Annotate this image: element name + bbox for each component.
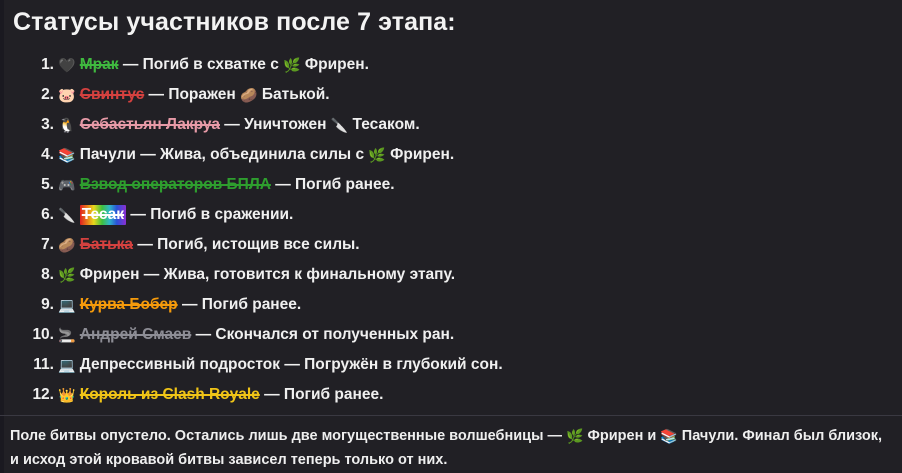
list-item: 8.🌿 Фрирен — Жива, готовится к финальном… bbox=[58, 260, 898, 290]
list-item: 5.🎮 Взвод операторов БПЛА — Погиб ранее. bbox=[58, 170, 898, 200]
em-dash: — bbox=[275, 176, 291, 193]
em-dash: — bbox=[196, 326, 212, 343]
list-item: 4.📚 Пачули — Жива, объединила силы с 🌿 Ф… bbox=[58, 140, 898, 170]
list-item-number: 3. bbox=[24, 110, 54, 140]
status-description: Погиб, истощив все силы. bbox=[157, 236, 359, 253]
participant-name: Тесак bbox=[80, 205, 126, 225]
status-description: Погиб ранее. bbox=[295, 176, 394, 193]
herb-emoji: 🌿 bbox=[368, 141, 385, 171]
footer-text-part2: Фрирен и bbox=[588, 428, 657, 444]
laptop-emoji: 💻 bbox=[58, 351, 75, 381]
books-emoji: 📚 bbox=[58, 141, 75, 171]
list-item: 7.🥔 Батька — Погиб, истощив все силы. bbox=[58, 230, 898, 260]
document-page: Статусы участников после 7 этапа: 1.🖤 Мр… bbox=[0, 0, 902, 473]
herb-emoji: 🌿 bbox=[58, 261, 75, 291]
page-title: Статусы участников после 7 этапа: bbox=[13, 8, 456, 37]
participant-name: Король из Clash Royale bbox=[80, 386, 260, 403]
em-dash: — bbox=[284, 356, 300, 373]
participant-name: Депрессивный подросток bbox=[80, 356, 280, 373]
participant-status-list: 1.🖤 Мрак — Погиб в схватке с 🌿 Фрирен.2.… bbox=[0, 50, 898, 410]
cigarette-emoji: 🚬 bbox=[58, 321, 75, 351]
list-item-number: 12. bbox=[24, 380, 54, 410]
status-description: Погиб ранее. bbox=[284, 386, 383, 403]
status-description: Погиб в сражении. bbox=[150, 206, 293, 223]
list-item-number: 9. bbox=[24, 290, 54, 320]
em-dash: — bbox=[144, 266, 160, 283]
pig-face-emoji: 🐷 bbox=[58, 81, 75, 111]
penguin-tuxedo-emoji: 🐧 bbox=[58, 111, 75, 141]
laptop-emoji: 💻 bbox=[58, 291, 75, 321]
participant-name: Фрирен bbox=[80, 266, 140, 283]
herb-icon: 🌿 bbox=[566, 426, 583, 449]
participant-name: Курва Бобер bbox=[80, 296, 178, 313]
em-dash: — bbox=[149, 86, 165, 103]
list-item-number: 10. bbox=[24, 320, 54, 350]
em-dash: — bbox=[224, 116, 240, 133]
list-item: 9.💻 Курва Бобер — Погиб ранее. bbox=[58, 290, 898, 320]
list-item: 2.🐷 Свинтус — Поражен 🥔 Батькой. bbox=[58, 80, 898, 110]
participant-name: Батька bbox=[80, 236, 133, 253]
participant-name: Андрей Смаев bbox=[80, 326, 192, 343]
status-description-tail: Фрирен. bbox=[305, 56, 369, 73]
list-item: 6.🔪 Тесак — Погиб в сражении. bbox=[58, 200, 898, 230]
list-item: 11.💻 Депрессивный подросток — Погружён в… bbox=[58, 350, 898, 380]
list-item-number: 4. bbox=[24, 140, 54, 170]
footer-divider bbox=[0, 415, 902, 416]
em-dash: — bbox=[130, 206, 146, 223]
status-description: Поражен bbox=[168, 86, 235, 103]
em-dash: — bbox=[140, 146, 156, 163]
dagger-knife-emoji: 🔪 bbox=[58, 201, 75, 231]
status-description-tail: Батькой. bbox=[262, 86, 330, 103]
em-dash: — bbox=[137, 236, 153, 253]
participant-name: Свинтус bbox=[80, 86, 144, 103]
status-description: Уничтожен bbox=[244, 116, 326, 133]
books-icon: 📚 bbox=[660, 426, 677, 449]
status-description: Погиб ранее. bbox=[202, 296, 301, 313]
list-item: 10.🚬 Андрей Смаев — Скончался от получен… bbox=[58, 320, 898, 350]
potato-emoji: 🥔 bbox=[240, 81, 257, 111]
status-description-tail: Фрирен. bbox=[390, 146, 454, 163]
footer-text-part1: Поле битвы опустело. Остались лишь две м… bbox=[10, 428, 562, 444]
list-item-number: 2. bbox=[24, 80, 54, 110]
video-game-controller-emoji: 🎮 bbox=[58, 171, 75, 201]
participant-name: Себастьян Лакруа bbox=[80, 116, 220, 133]
list-item-number: 7. bbox=[24, 230, 54, 260]
status-description: Погиб в схватке с bbox=[143, 56, 279, 73]
participant-name: Мрак bbox=[80, 56, 119, 73]
em-dash: — bbox=[264, 386, 280, 403]
footer-summary: Поле битвы опустело. Остались лишь две м… bbox=[10, 425, 894, 472]
black-heart-emoji: 🖤 bbox=[58, 51, 75, 81]
herb-emoji: 🌿 bbox=[283, 51, 300, 81]
status-description: Жива, готовится к финальному этапу. bbox=[164, 266, 456, 283]
dagger-knife-emoji: 🔪 bbox=[331, 111, 348, 141]
list-item-number: 11. bbox=[24, 350, 54, 380]
list-item: 1.🖤 Мрак — Погиб в схватке с 🌿 Фрирен. bbox=[58, 50, 898, 80]
list-item-number: 6. bbox=[24, 200, 54, 230]
status-description-tail: Тесаком. bbox=[353, 116, 420, 133]
list-item-number: 8. bbox=[24, 260, 54, 290]
status-description: Жива, объединила силы с bbox=[160, 146, 364, 163]
participant-name: Пачули bbox=[80, 146, 136, 163]
list-item-number: 1. bbox=[24, 50, 54, 80]
em-dash: — bbox=[123, 56, 139, 73]
crown-emoji: 👑 bbox=[58, 381, 75, 411]
list-item: 12.👑 Король из Clash Royale — Погиб ране… bbox=[58, 380, 898, 410]
participant-name: Взвод операторов БПЛА bbox=[80, 176, 271, 193]
list-item: 3.🐧 Себастьян Лакруа — Уничтожен 🔪 Тесак… bbox=[58, 110, 898, 140]
status-description: Скончался от полученных ран. bbox=[215, 326, 454, 343]
list-item-number: 5. bbox=[24, 170, 54, 200]
potato-emoji: 🥔 bbox=[58, 231, 75, 261]
status-description: Погружён в глубокий сон. bbox=[304, 356, 503, 373]
em-dash: — bbox=[182, 296, 198, 313]
